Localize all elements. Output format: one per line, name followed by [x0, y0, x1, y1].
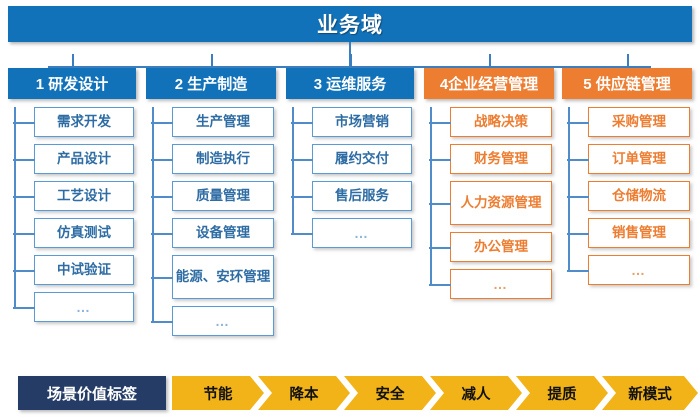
column-items-production-manufacturing: 生产管理制造执行质量管理设备管理能源、安环管理…	[146, 107, 276, 336]
column-item[interactable]: 工艺设计	[34, 181, 134, 211]
item-stub-connector	[429, 122, 451, 124]
domain-column-rd-design: 1 研发设计需求开发产品设计工艺设计仿真测试中试验证…	[8, 68, 136, 329]
column-item-label: 售后服务	[335, 188, 389, 204]
column-item-label: 仿真测试	[57, 225, 111, 241]
column-item[interactable]: 产品设计	[34, 144, 134, 174]
column-item-label: 质量管理	[196, 188, 250, 204]
item-stub-connector	[291, 122, 313, 124]
value-tag-chevron[interactable]: 新模式	[602, 376, 698, 410]
column-item[interactable]: 仿真测试	[34, 218, 134, 248]
column-item-label: 工艺设计	[57, 188, 111, 204]
business-domain-diagram: 业务域 1 研发设计需求开发产品设计工艺设计仿真测试中试验证…2 生产制造生产管…	[0, 0, 700, 420]
value-tag-chevron[interactable]: 提质	[516, 376, 608, 410]
item-stub-connector	[13, 122, 35, 124]
column-item[interactable]: 采购管理	[588, 107, 690, 137]
item-stub-connector	[291, 233, 313, 235]
item-stub-connector	[13, 307, 35, 309]
column-item[interactable]: 财务管理	[450, 144, 552, 174]
header-drop-connector	[72, 54, 74, 68]
item-stub-connector	[567, 270, 589, 272]
column-items-rd-design: 需求开发产品设计工艺设计仿真测试中试验证…	[8, 107, 136, 322]
column-item-label: …	[215, 313, 231, 329]
column-header-label: 4企业经营管理	[440, 73, 538, 94]
column-item[interactable]: 市场营销	[312, 107, 412, 137]
value-tag-label: 减人	[462, 383, 491, 404]
item-stub-connector	[567, 233, 589, 235]
column-item-label: …	[493, 276, 509, 292]
column-header-label: 3 运维服务	[314, 73, 387, 94]
column-item-label: 能源、安环管理	[176, 269, 271, 285]
column-item[interactable]: 订单管理	[588, 144, 690, 174]
column-item[interactable]: 需求开发	[34, 107, 134, 137]
column-header-ops-service[interactable]: 3 运维服务	[286, 68, 414, 99]
column-item[interactable]: 质量管理	[172, 181, 274, 211]
column-spine-connector	[568, 107, 570, 270]
item-stub-connector	[151, 196, 173, 198]
column-item[interactable]: 人力资源管理	[450, 181, 552, 225]
column-item-more[interactable]: …	[172, 306, 274, 336]
column-items-supply-chain: 采购管理订单管理仓储物流销售管理…	[562, 107, 692, 285]
item-stub-connector	[13, 233, 35, 235]
column-item-label: …	[631, 262, 647, 278]
column-item-label: 人力资源管理	[461, 195, 542, 211]
value-tag-label: 提质	[548, 383, 577, 404]
column-item[interactable]: 生产管理	[172, 107, 274, 137]
domain-column-ops-service: 3 运维服务市场营销履约交付售后服务…	[286, 68, 414, 255]
scenario-value-band: 场景价值标签 节能降本安全减人提质新模式	[0, 374, 700, 414]
column-header-supply-chain[interactable]: 5 供应链管理	[562, 68, 692, 99]
column-item-label: 设备管理	[196, 225, 250, 241]
item-stub-connector	[151, 321, 173, 323]
value-tag-label: 新模式	[628, 383, 672, 404]
column-item-label: 订单管理	[612, 151, 666, 167]
column-item-label: …	[354, 225, 370, 241]
item-stub-connector	[151, 277, 173, 279]
item-stub-connector	[429, 203, 451, 205]
item-stub-connector	[13, 270, 35, 272]
header-drop-connector	[489, 54, 491, 68]
item-stub-connector	[291, 196, 313, 198]
column-spine-connector	[430, 107, 432, 284]
item-stub-connector	[567, 122, 589, 124]
value-tag-chevron[interactable]: 安全	[344, 376, 436, 410]
value-tag-chevron[interactable]: 降本	[258, 376, 350, 410]
column-header-label: 2 生产制造	[175, 73, 248, 94]
column-spine-connector	[292, 107, 294, 233]
column-item[interactable]: 制造执行	[172, 144, 274, 174]
value-tag-chevron[interactable]: 减人	[430, 376, 522, 410]
item-stub-connector	[567, 159, 589, 161]
item-stub-connector	[13, 159, 35, 161]
item-stub-connector	[429, 159, 451, 161]
item-stub-connector	[13, 196, 35, 198]
column-item-label: 需求开发	[57, 114, 111, 130]
column-item-label: 市场营销	[335, 114, 389, 130]
column-item-more[interactable]: …	[450, 269, 552, 299]
item-stub-connector	[567, 196, 589, 198]
column-item-label: 履约交付	[335, 151, 389, 167]
header-drop-connector	[627, 54, 629, 68]
column-header-label: 1 研发设计	[36, 73, 109, 94]
column-spine-connector	[14, 107, 16, 307]
column-item-label: 产品设计	[57, 151, 111, 167]
column-item-label: 战略决策	[474, 114, 528, 130]
domain-column-production-manufacturing: 2 生产制造生产管理制造执行质量管理设备管理能源、安环管理…	[146, 68, 276, 343]
item-stub-connector	[291, 159, 313, 161]
scenario-value-label: 场景价值标签	[18, 376, 166, 410]
value-tag-label: 节能	[204, 383, 233, 404]
item-stub-connector	[151, 122, 173, 124]
column-item-label: 采购管理	[612, 114, 666, 130]
item-stub-connector	[429, 247, 451, 249]
column-item-label: 销售管理	[612, 225, 666, 241]
column-item[interactable]: 销售管理	[588, 218, 690, 248]
column-item[interactable]: 办公管理	[450, 232, 552, 262]
column-item-label: 仓储物流	[612, 188, 666, 204]
column-item-label: …	[76, 299, 92, 315]
column-item-label: 生产管理	[196, 114, 250, 130]
column-item-label: 中试验证	[57, 262, 111, 278]
item-stub-connector	[429, 284, 451, 286]
column-item[interactable]: 设备管理	[172, 218, 274, 248]
header-drop-connector	[211, 54, 213, 68]
value-tag-chevron[interactable]: 节能	[172, 376, 264, 410]
column-spine-connector	[152, 107, 154, 321]
column-item-label: 办公管理	[474, 239, 528, 255]
value-tag-label: 安全	[376, 383, 405, 404]
column-item[interactable]: 能源、安环管理	[172, 255, 274, 299]
column-item-more[interactable]: …	[312, 218, 412, 248]
domain-column-enterprise-management: 4企业经营管理战略决策财务管理人力资源管理办公管理…	[424, 68, 554, 306]
column-item-more[interactable]: …	[34, 292, 134, 322]
column-item-more[interactable]: …	[588, 255, 690, 285]
column-items-enterprise-management: 战略决策财务管理人力资源管理办公管理…	[424, 107, 554, 299]
column-items-ops-service: 市场营销履约交付售后服务…	[286, 107, 414, 248]
column-header-production-manufacturing[interactable]: 2 生产制造	[146, 68, 276, 99]
column-item[interactable]: 售后服务	[312, 181, 412, 211]
item-stub-connector	[151, 233, 173, 235]
column-item[interactable]: 仓储物流	[588, 181, 690, 211]
domain-column-supply-chain: 5 供应链管理采购管理订单管理仓储物流销售管理…	[562, 68, 692, 292]
column-item[interactable]: 战略决策	[450, 107, 552, 137]
item-stub-connector	[151, 159, 173, 161]
column-header-rd-design[interactable]: 1 研发设计	[8, 68, 136, 99]
column-item[interactable]: 履约交付	[312, 144, 412, 174]
column-item[interactable]: 中试验证	[34, 255, 134, 285]
column-header-label: 5 供应链管理	[583, 73, 671, 94]
column-header-enterprise-management[interactable]: 4企业经营管理	[424, 68, 554, 99]
business-domain-banner: 业务域	[8, 6, 692, 42]
column-item-label: 制造执行	[196, 151, 250, 167]
value-tag-label: 降本	[290, 383, 319, 404]
column-item-label: 财务管理	[474, 151, 528, 167]
header-drop-connector	[350, 54, 352, 68]
banner-title: 业务域	[317, 9, 383, 39]
